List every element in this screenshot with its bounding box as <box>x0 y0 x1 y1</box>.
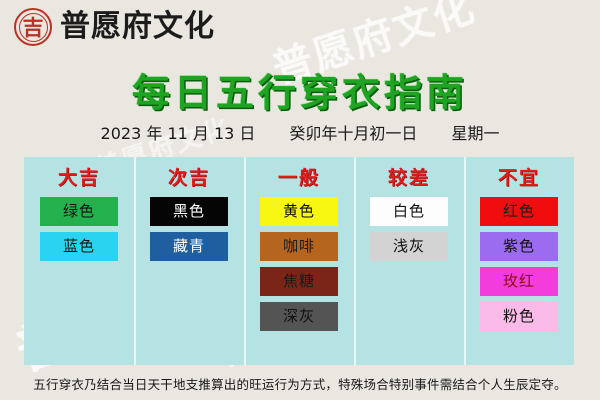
color-chip-list: 红色紫色玫红粉色 <box>464 197 574 331</box>
date-row: 2023 年 11 月 13 日 癸卯年十月初一日 星期一 <box>0 120 600 144</box>
color-chip: 黑色 <box>150 197 228 226</box>
fortune-column-header: 次吉 <box>168 163 210 190</box>
seal-stamp-icon: 吉 <box>14 8 52 46</box>
color-chip: 玫红 <box>480 267 558 296</box>
lunar-date: 癸卯年十月初一日 <box>289 120 417 144</box>
color-chip: 红色 <box>480 197 558 226</box>
color-chip: 绿色 <box>40 197 118 226</box>
fortune-column: 不宜红色紫色玫红粉色 <box>464 157 574 365</box>
gregorian-date: 2023 年 11 月 13 日 <box>101 120 256 144</box>
color-chip: 焦糖 <box>260 267 338 296</box>
brand-row: 吉 普愿府文化 <box>14 8 215 46</box>
color-chip: 深灰 <box>260 302 338 331</box>
footer-note: 五行穿衣乃结合当日天干地支推算出的旺运行为方式，特殊场合特别事件需结合个人生辰定… <box>0 374 600 393</box>
color-chip-list: 白色浅灰 <box>354 197 464 261</box>
color-chip: 紫色 <box>480 232 558 261</box>
fortune-column: 一般黄色咖啡焦糖深灰 <box>244 157 354 365</box>
color-chip: 咖啡 <box>260 232 338 261</box>
color-chip: 白色 <box>370 197 448 226</box>
fortune-column-header: 一般 <box>278 163 320 190</box>
color-chip: 浅灰 <box>370 232 448 261</box>
fortune-color-table: 大吉绿色蓝色次吉黑色藏青一般黄色咖啡焦糖深灰较差白色浅灰不宜红色紫色玫红粉色 <box>24 157 574 365</box>
fortune-column-header: 不宜 <box>498 163 540 190</box>
fortune-column: 大吉绿色蓝色 <box>24 157 134 365</box>
page-title: 每日五行穿衣指南 <box>0 62 600 117</box>
fortune-column: 较差白色浅灰 <box>354 157 464 365</box>
color-chip: 黄色 <box>260 197 338 226</box>
fortune-column-header: 较差 <box>388 163 430 190</box>
color-chip-list: 黑色藏青 <box>134 197 244 261</box>
weekday: 星期一 <box>451 120 499 144</box>
color-chip-list: 黄色咖啡焦糖深灰 <box>244 197 354 331</box>
fortune-column-header: 大吉 <box>58 163 100 190</box>
color-chip-list: 绿色蓝色 <box>24 197 134 261</box>
color-chip: 藏青 <box>150 232 228 261</box>
brand-name: 普愿府文化 <box>60 12 215 42</box>
color-chip: 粉色 <box>480 302 558 331</box>
fortune-column: 次吉黑色藏青 <box>134 157 244 365</box>
color-chip: 蓝色 <box>40 232 118 261</box>
